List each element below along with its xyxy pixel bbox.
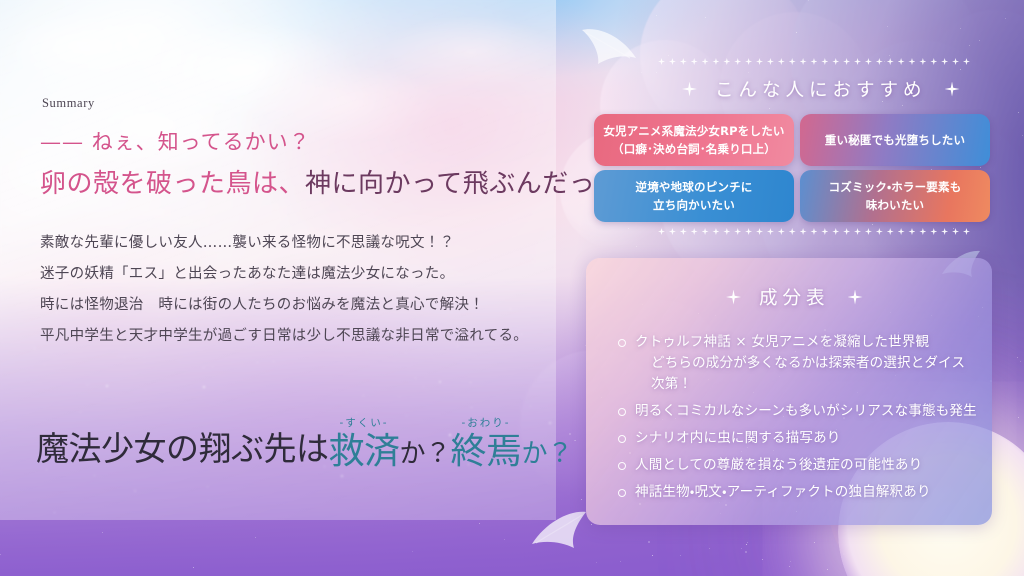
star-speck (652, 555, 653, 556)
ingredient-text: 明るくコミカルなシーンも多いがシリアスな事態も発生 (635, 401, 977, 422)
divider-dot (854, 58, 861, 65)
ingredient-sub: どちらの成分が多くなるかは探索者の選択とダイス次第！ (635, 353, 978, 395)
star-speck (628, 228, 629, 229)
star-speck (796, 32, 797, 33)
divider-dot (778, 228, 785, 235)
divider-dot (745, 58, 752, 65)
divider-dot (702, 228, 709, 235)
circle-outline-icon (618, 339, 626, 347)
ingredients-heading: 成分表 (726, 284, 863, 310)
divider-dot (876, 228, 883, 235)
divider-dot (963, 228, 970, 235)
ingredient-item: クトゥルフ神話 × 女児アニメを凝縮した世界観 どちらの成分が多くなるかは探索者… (618, 332, 978, 395)
divider-dot (778, 58, 785, 65)
ruby-group-owari: -おわり- 終焉 (451, 418, 522, 470)
star-speck (1020, 361, 1021, 362)
recommend-button-4-line1: コズミック・ホラー要素も (829, 178, 962, 196)
divider-dot (734, 228, 741, 235)
divider-dot (908, 58, 915, 65)
star-speck (979, 40, 980, 41)
star-speck (814, 542, 815, 543)
divider-dot (669, 58, 676, 65)
divider-dot (789, 228, 796, 235)
star-speck (1017, 357, 1018, 358)
divider-dot (800, 228, 807, 235)
star-speck (769, 108, 770, 109)
sparkle-icon-left (726, 290, 741, 305)
ingredients-list: クトゥルフ神話 × 女児アニメを凝縮した世界観 どちらの成分が多くなるかは探索者… (618, 332, 978, 509)
divider-dot (952, 58, 959, 65)
recommend-button-3-line2: 立ち向かいたい (653, 196, 735, 214)
slide-canvas: Summary —— ねぇ、知ってるかい？ 卵の殻を破った鳥は、神に向かって飛ぶ… (0, 0, 1024, 576)
sparkle-icon-right (945, 82, 960, 97)
divider-dot (767, 58, 774, 65)
star-speck (808, 0, 809, 1)
divider-dot (887, 58, 894, 65)
star-speck (591, 524, 592, 525)
divider-dot (745, 228, 752, 235)
divider-dot (941, 58, 948, 65)
ingredient-item: 明るくコミカルなシーンも多いがシリアスな事態も発生 (618, 401, 978, 422)
divider-dot (658, 58, 665, 65)
divider-dot (691, 58, 698, 65)
divider-dot (712, 58, 719, 65)
ingredient-main: クトゥルフ神話 × 女児アニメを凝縮した世界観 (635, 334, 929, 350)
star-speck (641, 72, 642, 73)
divider-dot (930, 228, 937, 235)
star-speck (636, 246, 637, 247)
recommend-heading-label: こんな人におすすめ (715, 76, 927, 102)
star-speck (620, 561, 621, 562)
recommend-button-4[interactable]: コズミック・ホラー要素も 味わいたい (800, 170, 990, 222)
divider-dot (876, 58, 883, 65)
divider-dot (723, 58, 730, 65)
star-speck (902, 105, 903, 106)
divider-dot (669, 228, 676, 235)
ingredient-main: 明るくコミカルなシーンも多いがシリアスな事態も発生 (635, 403, 977, 419)
star-speck (680, 555, 681, 556)
star-speck (412, 551, 413, 552)
star-speck (656, 72, 657, 73)
ingredient-item: 神話生物・呪文・アーティファクトの独自解釈あり (618, 482, 978, 503)
divider-dot (898, 58, 905, 65)
divider-dot (821, 58, 828, 65)
summary-body-line: 素敵な先輩に優しい友人……襲い来る怪物に不思議な呪文！？ (40, 228, 528, 259)
ruby-group-sukui: -すくい- 救済 (329, 418, 400, 470)
circle-outline-icon (618, 462, 626, 470)
divider-dot (767, 228, 774, 235)
ingredients-heading-label: 成分表 (759, 284, 830, 310)
ruby-text-sukui: -すくい- (339, 418, 388, 429)
recommend-button-2[interactable]: 重い秘匿でも光堕ちしたい (800, 114, 990, 166)
recommend-button-1-line1: 女児アニメ系魔法少女RPをしたい (603, 122, 784, 140)
divider-dot (854, 228, 861, 235)
ingredient-item: シナリオ内に虫に関する描写あり (618, 428, 978, 449)
divider-dot (832, 58, 839, 65)
star-speck (479, 523, 480, 524)
divider-dot (734, 58, 741, 65)
divider-dot (865, 58, 872, 65)
star-speck (960, 28, 961, 29)
dot-divider-bottom (658, 228, 970, 235)
ruby-base-shuuen: 終焉 (451, 434, 522, 470)
star-speck (741, 548, 742, 549)
star-speck (745, 551, 747, 553)
ingredient-text: 神話生物・呪文・アーティファクトの独自解釈あり (635, 482, 931, 503)
star-speck (872, 224, 873, 225)
divider-dot (843, 228, 850, 235)
divider-dot (680, 58, 687, 65)
divider-dot (919, 228, 926, 235)
star-speck (1018, 417, 1019, 418)
ingredient-main: シナリオ内に虫に関する描写あり (635, 430, 841, 446)
star-speck (827, 569, 828, 570)
sparkle-icon-left (682, 82, 697, 97)
divider-dot (658, 228, 665, 235)
ingredient-main: 神話生物・呪文・アーティファクトの独自解釈あり (635, 484, 931, 500)
star-speck (746, 544, 747, 545)
divider-dot (800, 58, 807, 65)
divider-dot (712, 228, 719, 235)
tagline-mid: か？ (400, 433, 451, 470)
divider-dot (865, 228, 872, 235)
scenario-tagline: 魔法少女の翔ぶ先は -すくい- 救済 か？ -おわり- 終焉 か？ (36, 418, 573, 470)
star-speck (656, 15, 657, 16)
divider-dot (680, 228, 687, 235)
lead-line-2: 卵の殻を破った鳥は、神に向かって飛ぶんだって。 (40, 163, 646, 200)
divider-dot (843, 58, 850, 65)
star-speck (762, 559, 763, 560)
circle-outline-icon (618, 435, 626, 443)
divider-dot (952, 228, 959, 235)
star-speck (648, 541, 650, 543)
recommend-heading: こんな人におすすめ (682, 76, 960, 102)
divider-dot (941, 228, 948, 235)
star-speck (193, 567, 194, 568)
divider-dot (691, 228, 698, 235)
recommend-button-3-line1: 逆境や地球のピンチに (636, 178, 753, 196)
summary-body: 素敵な先輩に優しい友人……襲い来る怪物に不思議な呪文！？ 迷子の妖精「エス」と出… (40, 228, 528, 352)
dot-divider-top (658, 58, 970, 65)
divider-dot (963, 58, 970, 65)
divider-dot (832, 228, 839, 235)
lead-line-2-pink: 卵の殻を破った鳥は、 (40, 169, 305, 199)
divider-dot (821, 228, 828, 235)
lead-line-1: —— ねぇ、知ってるかい？ (40, 126, 311, 156)
recommend-button-2-line1: 重い秘匿でも光堕ちしたい (825, 131, 965, 149)
star-speck (889, 55, 890, 56)
divider-dot (810, 228, 817, 235)
summary-body-line: 迷子の妖精「エス」と出会ったあなた達は魔法少女になった。 (40, 259, 528, 290)
star-speck (789, 566, 790, 567)
summary-label: Summary (42, 96, 95, 111)
divider-dot (756, 228, 763, 235)
recommend-button-1[interactable]: 女児アニメ系魔法少女RPをしたい （口癖･決め台詞･名乗り口上） (594, 114, 794, 166)
star-speck (581, 499, 582, 500)
divider-dot (723, 228, 730, 235)
star-speck (1018, 112, 1019, 113)
star-speck (255, 537, 256, 538)
divider-dot (810, 58, 817, 65)
star-speck (748, 72, 749, 73)
sparkle-icon-right (848, 290, 863, 305)
divider-dot (898, 228, 905, 235)
summary-body-line: 平凡中学生と天才中学生が過ごす日常は少し不思議な非日常で溢れてる。 (40, 321, 528, 352)
star-speck (960, 69, 961, 70)
circle-outline-icon (618, 408, 626, 416)
recommend-button-3[interactable]: 逆境や地球のピンチに 立ち向かいたい (594, 170, 794, 222)
recommend-button-4-line2: 味わいたい (866, 196, 925, 214)
star-speck (0, 554, 1, 555)
star-speck (504, 539, 505, 540)
star-speck (980, 167, 981, 168)
tagline-suffix: か？ (522, 433, 573, 470)
divider-dot (756, 58, 763, 65)
circle-outline-icon (618, 489, 626, 497)
divider-dot (919, 58, 926, 65)
recommend-button-1-line2: （口癖･決め台詞･名乗り口上） (612, 140, 776, 158)
divider-dot (930, 58, 937, 65)
ingredient-text: クトゥルフ神話 × 女児アニメを凝縮した世界観 どちらの成分が多くなるかは探索者… (635, 332, 978, 395)
ruby-text-owari: -おわり- (462, 418, 511, 429)
ingredient-text: 人間としての尊厳を損なう後遺症の可能性あり (635, 455, 922, 476)
star-speck (1022, 135, 1023, 136)
ingredient-main: 人間としての尊厳を損なう後遺症の可能性あり (635, 457, 922, 473)
star-speck (575, 440, 576, 441)
star-speck (887, 26, 888, 27)
ruby-base-kyuusai: 救済 (329, 434, 400, 470)
star-speck (747, 542, 748, 543)
tagline-prefix: 魔法少女の翔ぶ先は (36, 422, 329, 470)
star-speck (790, 561, 791, 562)
summary-body-line: 時には怪物退治 時には街の人たちのお悩みを魔法と真心で解決！ (40, 290, 528, 321)
divider-dot (789, 58, 796, 65)
divider-dot (702, 58, 709, 65)
star-speck (705, 17, 706, 18)
star-speck (102, 532, 103, 533)
divider-dot (908, 228, 915, 235)
divider-dot (887, 228, 894, 235)
star-speck (668, 55, 669, 56)
star-speck (709, 548, 710, 549)
ingredient-item: 人間としての尊厳を損なう後遺症の可能性あり (618, 455, 978, 476)
star-speck (1005, 18, 1006, 19)
star-speck (596, 562, 597, 563)
ingredient-text: シナリオ内に虫に関する描写あり (635, 428, 841, 449)
star-speck (969, 45, 970, 46)
